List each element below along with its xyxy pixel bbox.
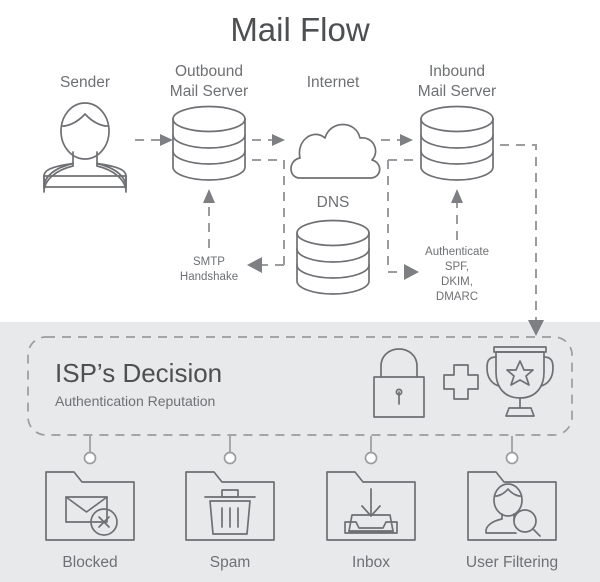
annotation-auth-line2: SPF,	[445, 261, 469, 273]
annotation-auth-line4: DMARC	[436, 291, 478, 303]
arrow-outbound-to-internet	[252, 134, 285, 146]
arrow-smtp-up-to-outbound	[203, 189, 215, 248]
node-label-sender: Sender	[60, 74, 110, 91]
dashed-inbound-to-isp	[500, 145, 544, 336]
dashed-dns-to-inbound-branch	[388, 160, 420, 272]
outcome-label-spam: Spam	[210, 554, 251, 571]
person-icon	[44, 103, 126, 192]
database-icon-dns	[297, 221, 369, 295]
annotation-auth-line1: Authenticate	[425, 246, 489, 258]
outcome-label-user-filtering: User Filtering	[466, 554, 558, 571]
node-label-outbound-line2: Mail Server	[170, 83, 248, 100]
node-label-inbound-line2: Mail Server	[418, 83, 496, 100]
arrow-auth-up-to-inbound	[451, 189, 463, 240]
mail-flow-diagram: Mail Flow Sender Outbound Mail Server In…	[0, 0, 600, 582]
arrow-smtp-handshake	[247, 257, 284, 273]
page-title: Mail Flow	[230, 11, 370, 48]
node-label-dns: DNS	[317, 194, 350, 211]
database-icon-outbound	[173, 107, 245, 181]
arrow-sender-to-outbound	[135, 134, 173, 146]
dashed-outbound-to-dns-branch	[252, 160, 284, 265]
annotation-smtp-line2: Handshake	[180, 271, 238, 283]
annotation-smtp-line1: SMTP	[193, 256, 225, 268]
database-icon-inbound	[421, 107, 493, 181]
diagram-canvas: Mail Flow Sender Outbound Mail Server In…	[0, 0, 600, 582]
isp-decision-subtitle: Authentication Reputation	[55, 393, 215, 409]
node-label-inbound-line1: Inbound	[429, 63, 485, 80]
annotation-auth-line3: DKIM,	[441, 276, 473, 288]
cloud-icon	[291, 125, 380, 179]
node-label-internet: Internet	[307, 74, 360, 91]
isp-decision-title: ISP’s Decision	[55, 358, 222, 388]
outcome-label-blocked: Blocked	[62, 554, 117, 571]
outcome-label-inbox: Inbox	[352, 554, 390, 571]
arrow-internet-to-inbound	[381, 134, 413, 146]
node-label-outbound-line1: Outbound	[175, 63, 243, 80]
arrow-authenticate	[388, 264, 419, 280]
